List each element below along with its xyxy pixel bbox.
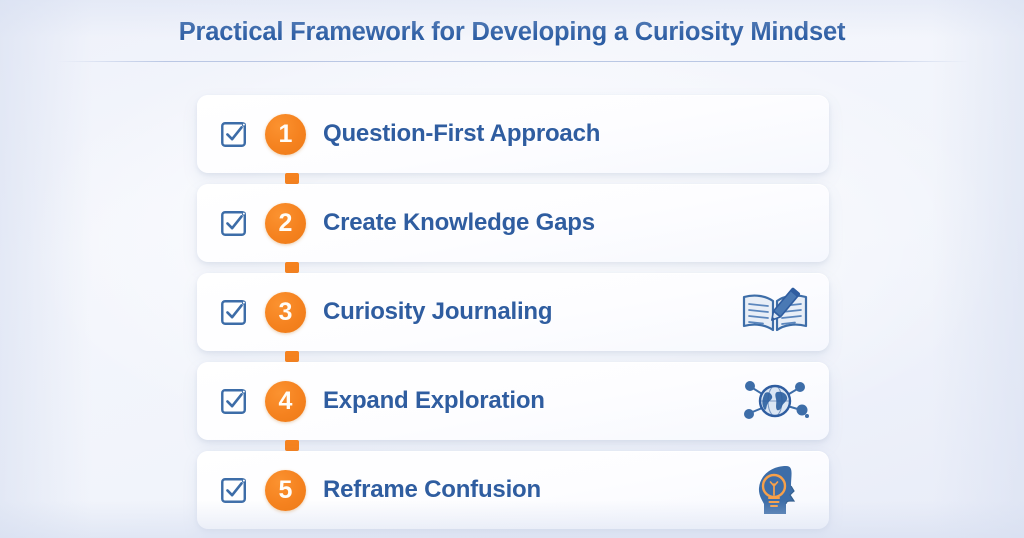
checkbox-checked-icon[interactable] (219, 475, 249, 505)
step-number-badge: 4 (265, 381, 306, 422)
checkbox-checked-icon[interactable] (219, 297, 249, 327)
step-connector (285, 173, 299, 184)
step-label: Curiosity Journaling (323, 298, 552, 326)
list-item[interactable]: 4 Expand Exploration (197, 362, 829, 440)
globe-network-icon (739, 373, 811, 429)
step-number-badge: 1 (265, 114, 306, 155)
steps-list: 1 Question-First Approach 2 Create Knowl… (197, 95, 829, 529)
list-item[interactable]: 1 Question-First Approach (197, 95, 829, 173)
step-label: Create Knowledge Gaps (323, 209, 595, 237)
step-connector (285, 351, 299, 362)
list-item[interactable]: 2 Create Knowledge Gaps (197, 184, 829, 262)
title-divider (56, 61, 970, 62)
list-item[interactable]: 5 Reframe Confusion (197, 451, 829, 529)
open-book-pencil-icon (739, 284, 811, 340)
infographic-canvas: Practical Framework for Developing a Cur… (0, 0, 1024, 538)
list-item[interactable]: 3 Curiosity Journaling (197, 273, 829, 351)
step-number-badge: 3 (265, 292, 306, 333)
step-number-badge: 5 (265, 470, 306, 511)
head-lightbulb-icon (739, 462, 811, 518)
step-label: Reframe Confusion (323, 476, 541, 504)
checkbox-checked-icon[interactable] (219, 119, 249, 149)
step-connector (285, 440, 299, 451)
step-label: Expand Exploration (323, 387, 545, 415)
step-number-badge: 2 (265, 203, 306, 244)
step-connector (285, 262, 299, 273)
checkbox-checked-icon[interactable] (219, 386, 249, 416)
step-label: Question-First Approach (323, 120, 600, 148)
checkbox-checked-icon[interactable] (219, 208, 249, 238)
page-title: Practical Framework for Developing a Cur… (0, 18, 1024, 47)
